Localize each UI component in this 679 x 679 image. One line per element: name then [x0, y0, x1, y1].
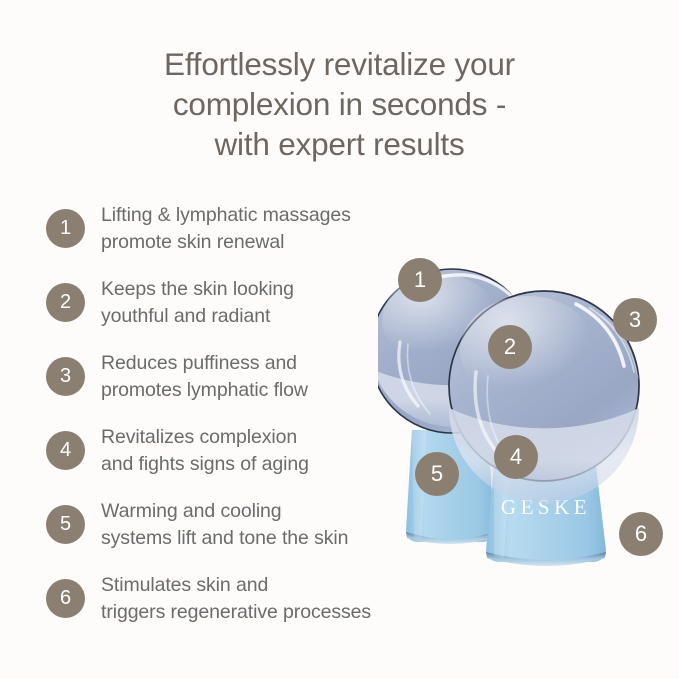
product-callout-badge-5: 5 [415, 452, 459, 496]
benefit-text-1-line-1: Lifting & lymphatic massages [101, 202, 471, 229]
benefit-number-badge-1: 1 [46, 209, 85, 248]
headline-line-3: with expert results [0, 124, 679, 164]
benefit-number-badge-6: 6 [46, 579, 85, 618]
benefit-text-6-line-2: triggers regenerative processes [101, 599, 471, 626]
benefit-number-badge-3: 3 [46, 357, 85, 396]
benefit-number-badge-5: 5 [46, 505, 85, 544]
product-callout-badge-6: 6 [619, 512, 663, 556]
product-callout-badge-2: 2 [488, 325, 532, 369]
list-item: 6 Stimulates skin and triggers regenerat… [46, 568, 466, 642]
headline-line-2: complexion in seconds - [0, 84, 679, 124]
benefit-number-badge-4: 4 [46, 431, 85, 470]
product-callout-badge-4: 4 [494, 435, 538, 479]
product-callout-badge-1: 1 [398, 258, 442, 302]
benefit-number-badge-2: 2 [46, 283, 85, 322]
benefit-text-6: Stimulates skin and triggers regenerativ… [101, 572, 471, 625]
product-benefits-infographic: Effortlessly revitalize your complexion … [0, 0, 679, 679]
headline-line-1: Effortlessly revitalize your [0, 44, 679, 84]
product-callout-badge-3: 3 [613, 298, 657, 342]
page-title: Effortlessly revitalize your complexion … [0, 44, 679, 164]
